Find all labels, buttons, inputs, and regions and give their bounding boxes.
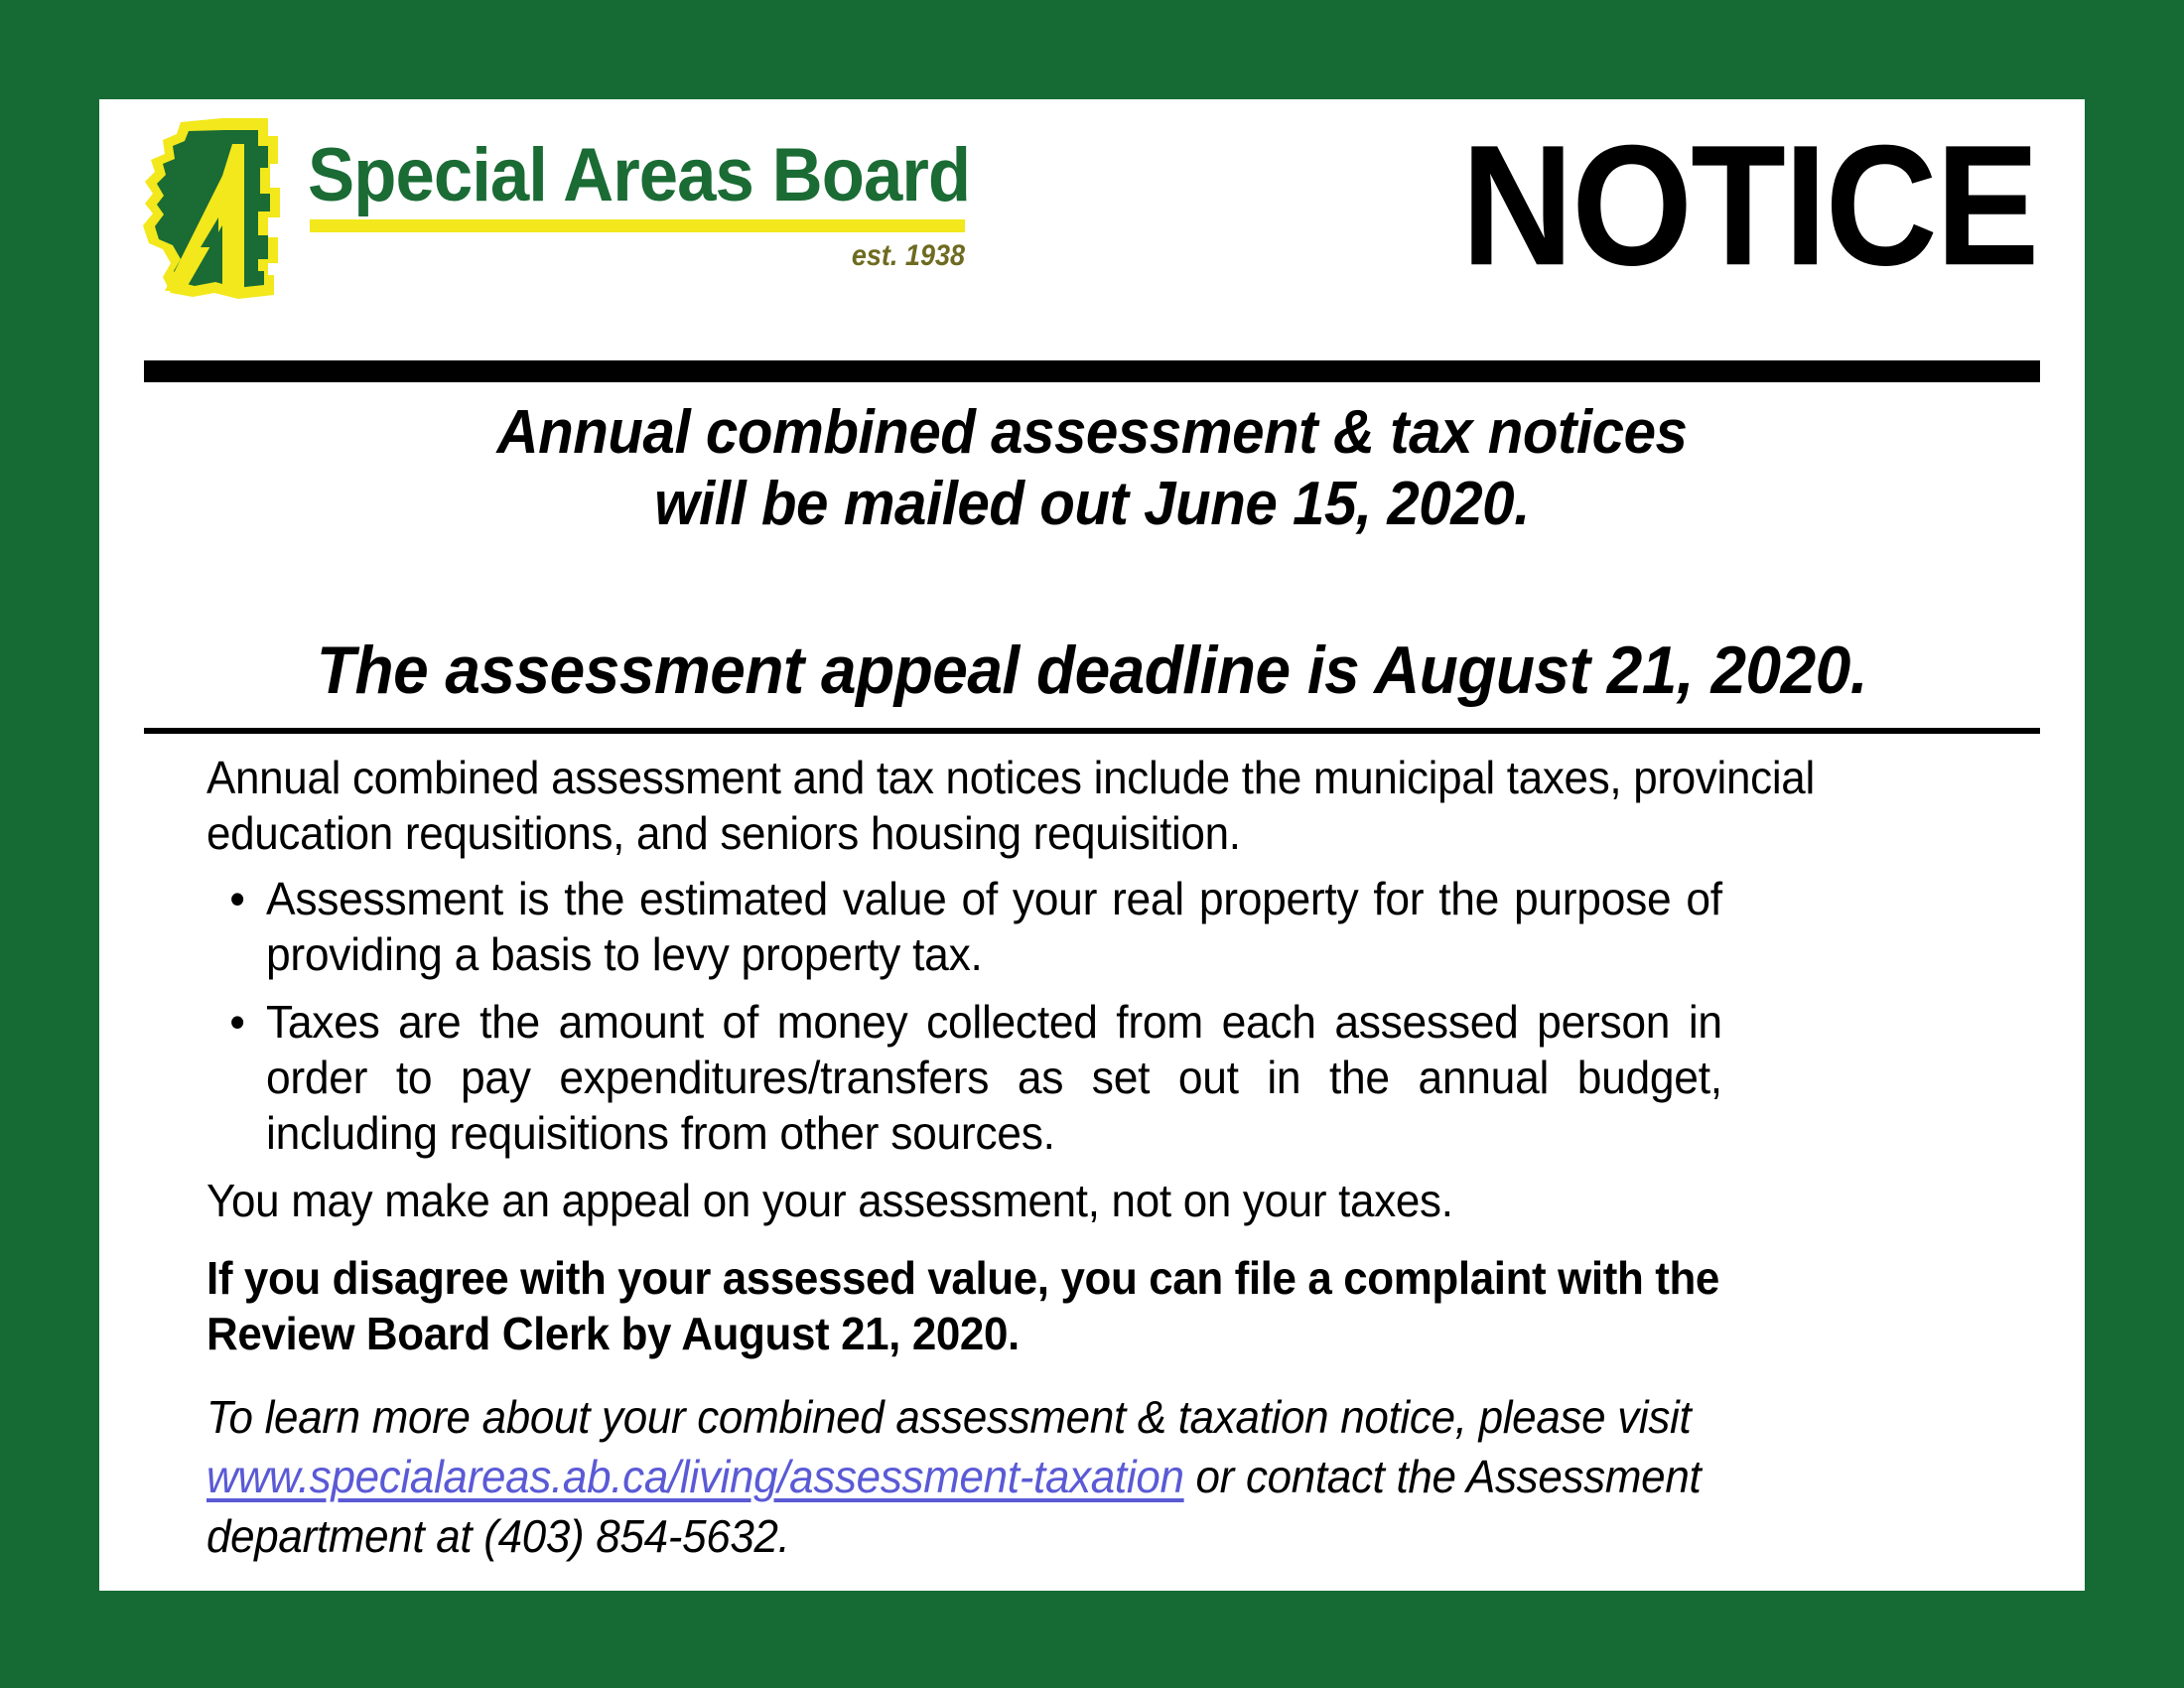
appeal-note-paragraph: You may make an appeal on your assessmen… — [206, 1173, 1819, 1228]
bullet-icon: • — [229, 871, 244, 926]
header: Special Areas Board est. 1938 NOTICE — [99, 99, 2085, 362]
logo-lockup: Special Areas Board est. 1938 — [119, 104, 1042, 343]
wordmark-underline-bar — [310, 219, 965, 232]
list-item-text: Assessment is the estimated value of you… — [266, 873, 1722, 980]
intro-paragraph: Annual combined assessment and tax notic… — [206, 750, 1819, 861]
headline-line-2: will be mailed out June 15, 2020. — [214, 469, 1969, 540]
special-areas-board-logo-icon — [119, 114, 298, 303]
body-content: Annual combined assessment and tax notic… — [206, 750, 1993, 1576]
wordmark: Special Areas Board est. 1938 — [308, 134, 1042, 276]
poster-background: Special Areas Board est. 1938 NOTICE Ann… — [0, 0, 2184, 1688]
definition-bullet-list: • Assessment is the estimated value of y… — [206, 871, 1993, 1161]
notice-title: NOTICE — [1460, 113, 2037, 298]
list-item: • Assessment is the estimated value of y… — [266, 871, 1722, 982]
wordmark-text: Special Areas Board — [308, 134, 991, 217]
established-year: est. 1938 — [373, 236, 965, 276]
headline-deadline: The assessment appeal deadline is August… — [214, 631, 1969, 710]
list-item: • Taxes are the amount of money collecte… — [266, 994, 1722, 1161]
notice-panel: Special Areas Board est. 1938 NOTICE Ann… — [99, 99, 2085, 1591]
bullet-icon: • — [229, 994, 244, 1050]
headline-block: Annual combined assessment & tax notices… — [159, 397, 2025, 540]
assessment-taxation-link[interactable]: www.specialareas.ab.ca/living/assessment… — [206, 1451, 1184, 1502]
headline-divider-thin — [144, 728, 2040, 734]
emphasis-paragraph: If you disagree with your assessed value… — [206, 1250, 1856, 1361]
headline-line-1: Annual combined assessment & tax notices — [214, 397, 1969, 469]
list-item-text: Taxes are the amount of money collected … — [266, 996, 1722, 1159]
footer-paragraph: To learn more about your combined assess… — [206, 1387, 1819, 1566]
footer-text-before-link: To learn more about your combined assess… — [206, 1391, 1691, 1443]
header-divider-thick — [144, 360, 2040, 382]
